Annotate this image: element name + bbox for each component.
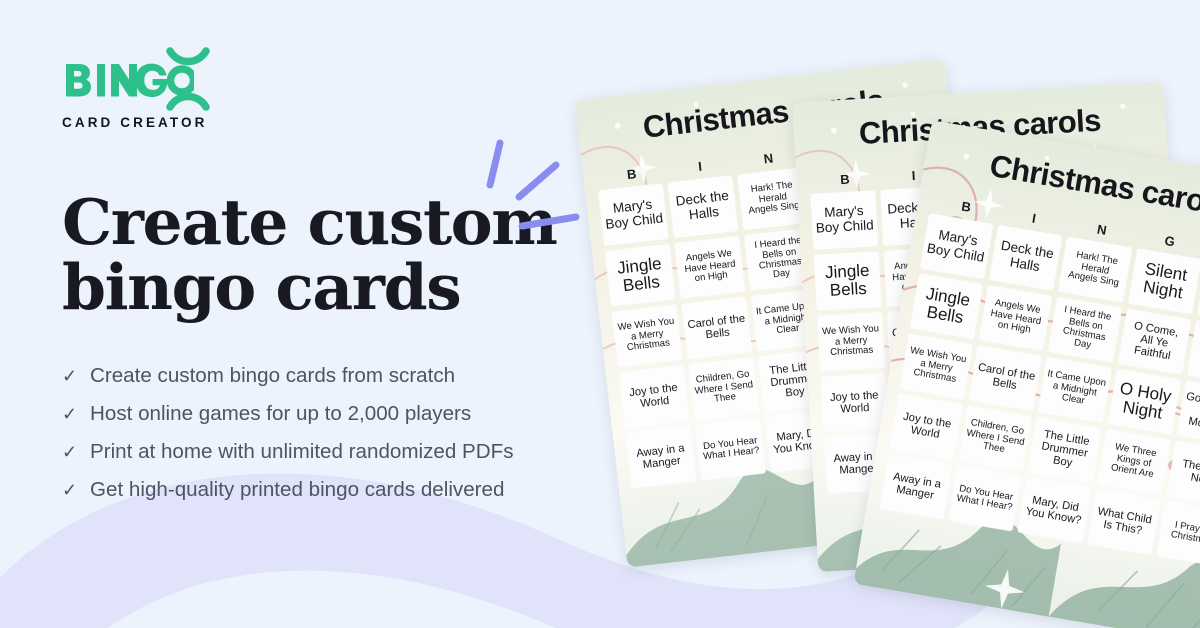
bingo-cell[interactable]: O Come, All Ye Faithful [1117,308,1191,374]
bingo-cell[interactable]: Away in a Manger [626,426,697,489]
bingo-cell[interactable]: Carol of the Bells [681,296,752,359]
bingo-cell[interactable]: Children, Go Where I Send Thee [959,405,1033,471]
list-item: ✓ Host online games for up to 2,000 play… [62,404,622,425]
bingo-cell[interactable]: Joy to the World [619,365,690,428]
bingo-cell[interactable]: Silent Night [1128,248,1200,314]
bingo-cell[interactable]: Angels We Have Heard on High [979,285,1053,351]
bingo-cell[interactable]: Jingle Bells [910,273,984,339]
check-icon: ✓ [62,405,77,423]
bingo-ball-arc-icon [166,47,210,123]
feature-list: ✓ Create custom bingo cards from scratch… [62,366,622,501]
check-icon: ✓ [62,481,77,499]
list-item: ✓ Get high-quality printed bingo cards d… [62,480,622,501]
bingo-cell[interactable]: What Child Is This? [1087,489,1161,555]
bingo-cell[interactable]: Do You Hear What I Hear? [695,418,766,481]
bingo-cell[interactable]: Mary, Did You Know? [1018,477,1092,543]
bingo-cell[interactable]: Joy to the World [889,394,963,460]
bingo-cell[interactable]: Children, Go Where I Send Thee [688,357,759,420]
bingo-cell[interactable]: Hark! The Herald Angels Sing [1058,237,1132,303]
check-icon: ✓ [62,443,77,461]
list-item-label: Print at home with unlimited randomized … [90,442,514,463]
bingo-cell[interactable]: Mary's Boy Child [920,213,994,279]
bingo-cell[interactable]: It Came Upon a Midnight Clear [1038,357,1112,423]
bingo-cell[interactable]: Jingle Bells [605,244,676,307]
list-item-label: Create custom bingo cards from scratch [90,366,455,387]
bingo-cell[interactable]: I Heard the Bells on Christmas Day [1048,297,1122,363]
check-icon: ✓ [62,367,77,385]
bingo-cell[interactable]: The First Noel [1166,440,1200,506]
bingo-cell[interactable]: We Wish You a Merry Christmas [612,304,683,367]
list-item: ✓ Print at home with unlimited randomize… [62,442,622,463]
bingo-cell[interactable]: Do You Hear What I Hear? [948,465,1022,531]
bingo-cell[interactable]: Go Tell it on the Mountain [1176,380,1200,446]
bingo-cell[interactable]: We Three Kings of Orient Are [1097,429,1171,495]
hero-banner: CARD CREATOR Create custom bingo cards ✓… [0,0,1200,628]
bingo-cell[interactable]: Carol of the Bells [969,345,1043,411]
bingo-card-stack: Christmas carols B I N G O Mary's Boy Ch… [560,0,1200,628]
bingo-cell[interactable]: Away in a Manger [879,454,953,520]
list-item: ✓ Create custom bingo cards from scratch [62,366,622,387]
hero-copy: CARD CREATOR Create custom bingo cards ✓… [62,56,622,518]
bingo-cell[interactable]: Mary's Boy Child [810,190,878,250]
bingo-cell[interactable]: I Pray on Christmas [1156,501,1200,567]
bingo-cell[interactable]: Mary's Boy Child [598,183,669,246]
bingo-cell[interactable]: Angels We Have Heard on High [675,236,746,299]
list-item-label: Host online games for up to 2,000 player… [90,404,471,425]
logo-subtitle: CARD CREATOR [62,115,622,130]
bingo-cell[interactable]: We Wish You a Merry Christmas [817,312,885,372]
bingo-cell[interactable]: We Wish You a Merry Christmas [900,333,974,399]
bingo-grid: Mary's Boy ChildDeck the HallsHark! The … [879,213,1200,567]
logo-wordmark [62,56,622,106]
bingo-cell[interactable]: Joy to the World [821,373,889,433]
headline-line-2: bingo cards [62,255,582,320]
bingo-cell[interactable]: Deck the Halls [989,225,1063,291]
bingo-cell[interactable]: Deck the Halls [668,175,739,238]
bingo-cell[interactable]: The Little Drummer Boy [1028,417,1102,483]
list-item-label: Get high-quality printed bingo cards del… [90,480,504,501]
bingo-cell[interactable]: O Holy Night [1107,369,1181,435]
logo[interactable]: CARD CREATOR [62,56,622,128]
bingo-cell[interactable]: Jingle Bells [814,251,882,311]
